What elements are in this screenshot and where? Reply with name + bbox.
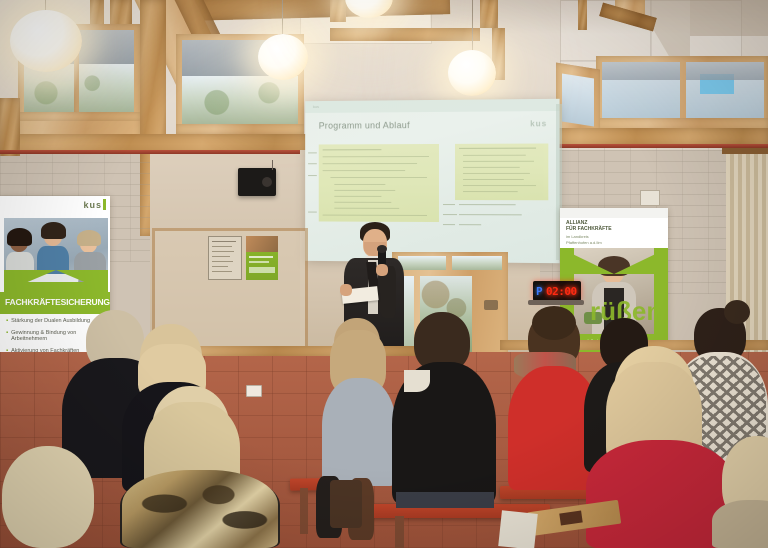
kus-logo-banner: kus bbox=[83, 200, 102, 210]
slide-agenda-block-left bbox=[319, 144, 439, 222]
banner-left-photo bbox=[4, 218, 108, 292]
bullet-icon: ▪ bbox=[6, 330, 8, 343]
lamp-cord bbox=[282, 0, 283, 36]
attendee-collar bbox=[404, 370, 430, 392]
window-blind bbox=[686, 62, 764, 80]
window-blind bbox=[602, 62, 680, 80]
ceiling-beam bbox=[480, 0, 498, 28]
attendee-floral-pattern bbox=[128, 474, 274, 548]
presenter-hand-right bbox=[376, 264, 388, 276]
kus-logo-slide: kus bbox=[530, 119, 547, 128]
ceiling-beam bbox=[330, 28, 480, 41]
bench-leg bbox=[300, 488, 308, 534]
bullet-icon: ▪ bbox=[6, 318, 8, 325]
led-timer-display[interactable]: P 02:00 bbox=[533, 281, 581, 301]
window-glass bbox=[562, 73, 594, 126]
ceiling-beam bbox=[578, 0, 587, 30]
banner-right-line4: Pfaffenhofen a.d.Ilm bbox=[566, 240, 602, 245]
wall-pipe bbox=[0, 150, 300, 154]
bench-leg bbox=[395, 516, 404, 548]
attendee-jeans bbox=[396, 492, 494, 508]
microphone-head bbox=[377, 245, 387, 253]
banner-right-line2: FÜR FACHKRÄFTE bbox=[566, 226, 612, 232]
speaker-cable bbox=[272, 160, 273, 170]
door-handle[interactable] bbox=[484, 300, 498, 310]
attendee-grey-sweater-body bbox=[322, 378, 396, 486]
window-sill bbox=[176, 124, 304, 134]
ceiling-corner-2 bbox=[690, 0, 768, 36]
ceiling-beam bbox=[330, 0, 346, 22]
attendee-bun bbox=[724, 300, 750, 324]
presenter-hand-left bbox=[340, 284, 352, 296]
poster-green-event bbox=[246, 236, 278, 280]
curtain-rail bbox=[722, 148, 768, 154]
screen-header-text: kus bbox=[313, 104, 319, 109]
slide-title: Programm und Ablauf bbox=[319, 120, 410, 131]
floor-bag bbox=[330, 480, 362, 528]
wall-loudspeaker bbox=[238, 168, 276, 196]
presentation-room-photo: kus Programm und Ablauf kus bbox=[0, 0, 768, 548]
screen-top-bar bbox=[305, 99, 559, 113]
person-hair bbox=[77, 230, 101, 246]
window-foliage bbox=[182, 76, 298, 124]
door-transom-glass bbox=[452, 256, 502, 270]
attendee-far-right-blonde-body bbox=[712, 500, 768, 548]
speaker-cone-icon bbox=[262, 177, 272, 187]
led-time: 02:00 bbox=[546, 285, 577, 298]
banner-right-line3: im Landkreis bbox=[566, 234, 589, 239]
pendant-lamp-4 bbox=[448, 50, 496, 96]
handout-white-sheet bbox=[498, 510, 538, 548]
attendee-bun bbox=[532, 306, 576, 340]
poster-agenda-sheet bbox=[208, 236, 242, 280]
person-hair bbox=[7, 228, 32, 246]
wall-sign bbox=[640, 190, 660, 206]
wall-outlet bbox=[246, 385, 262, 397]
led-stand bbox=[528, 300, 584, 305]
kus-logo-mark bbox=[103, 199, 106, 210]
window-sill bbox=[18, 112, 140, 121]
banner-left-title: FACHKRÄFTESICHERUNG bbox=[5, 297, 110, 307]
led-prefix: P bbox=[536, 285, 543, 298]
pendant-lamp-1 bbox=[10, 10, 82, 72]
bullet-text: Stärkung der Dualen Ausbildung bbox=[11, 318, 90, 325]
person-hair bbox=[41, 222, 66, 239]
pendant-lamp-2 bbox=[258, 34, 308, 80]
poster-photo bbox=[246, 236, 278, 252]
slide-agenda-block-right bbox=[455, 143, 548, 200]
attendee-front-left-head bbox=[2, 446, 94, 548]
lamp-cord bbox=[472, 0, 473, 52]
wall-rail-corner bbox=[0, 98, 20, 156]
